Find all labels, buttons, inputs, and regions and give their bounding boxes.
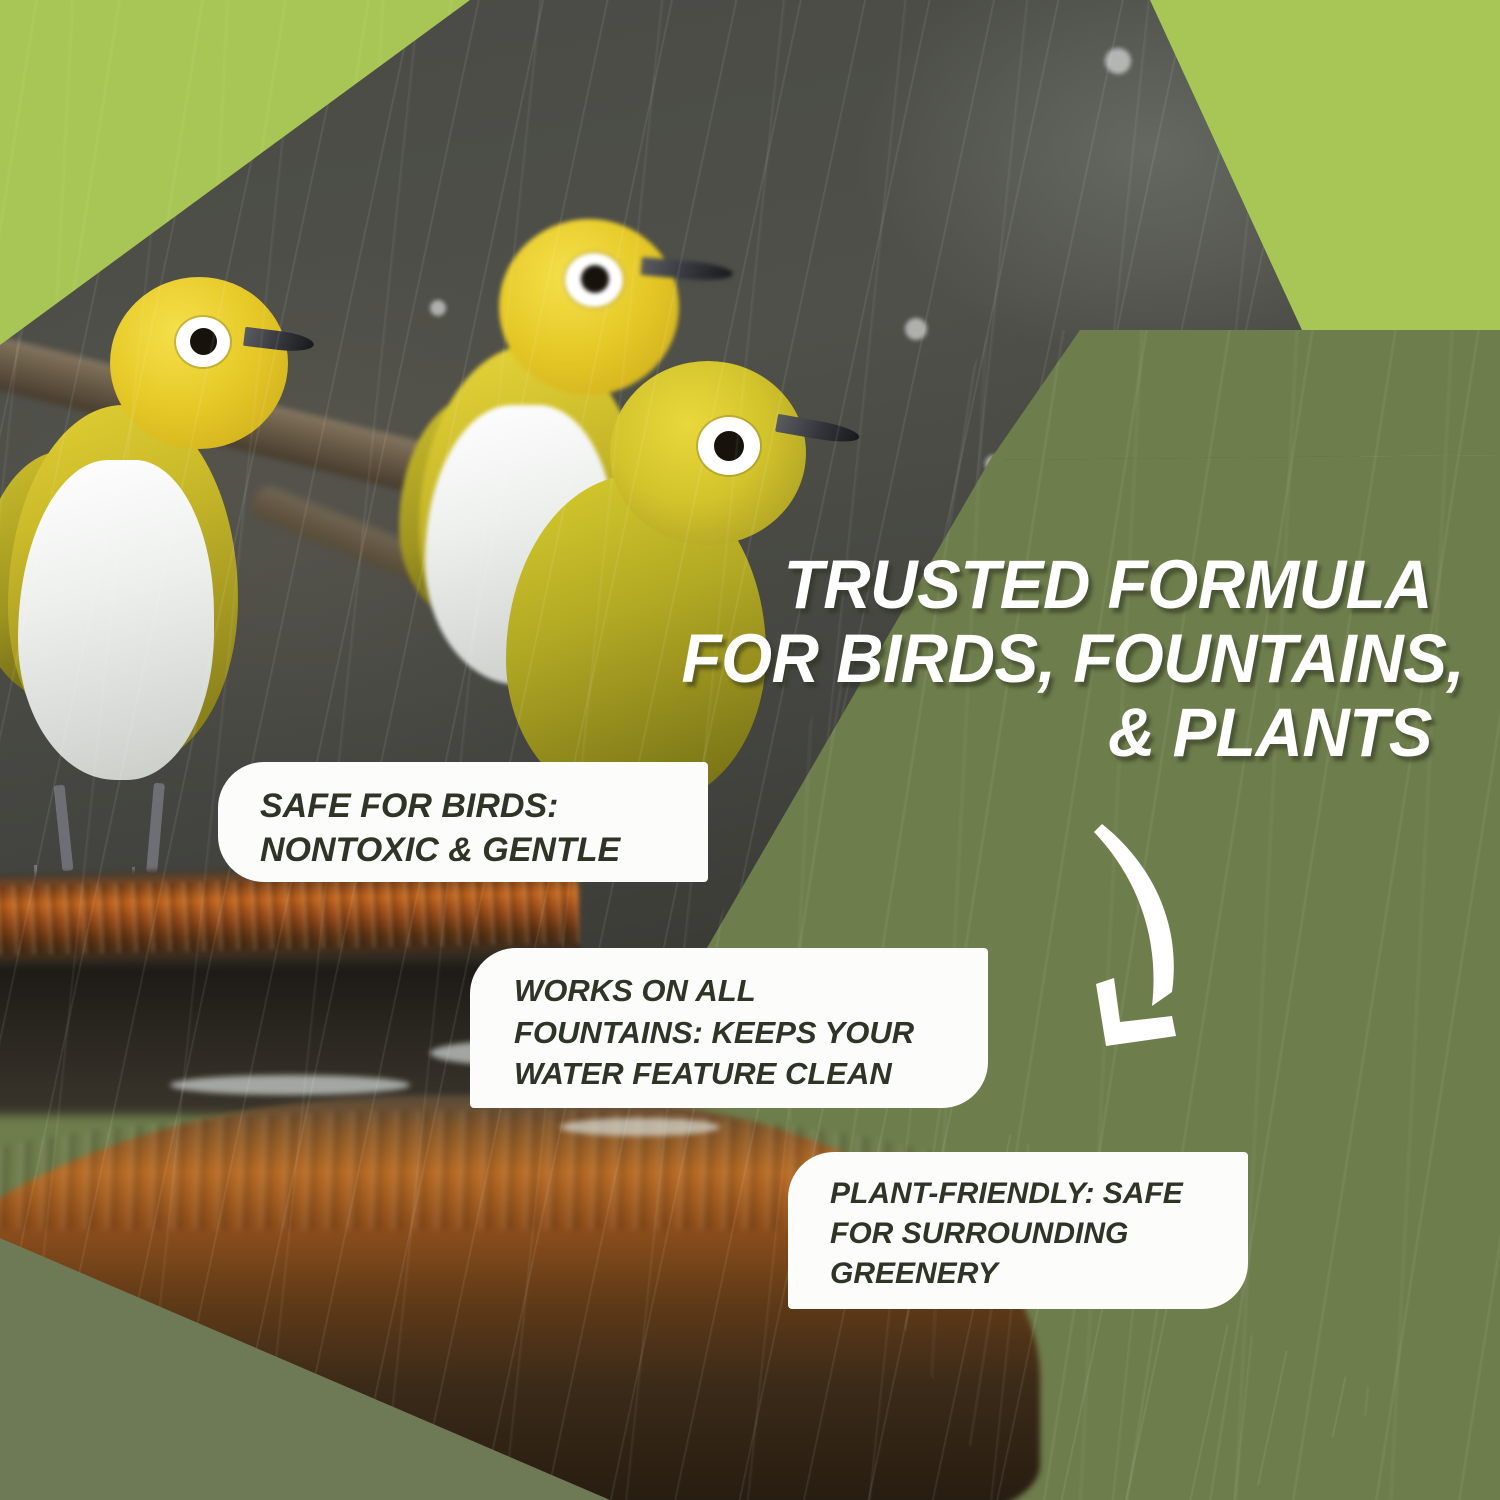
headline-line-2: FOR BIRDS, FOUNTAINS,: [682, 622, 1433, 696]
page-title: TRUSTED FORMULA FOR BIRDS, FOUNTAINS, & …: [682, 548, 1433, 769]
callout-works-on-all-fountains: WORKS ON ALL FOUNTAINS: KEEPS YOUR WATER…: [470, 948, 988, 1108]
callout-safe-for-birds: SAFE FOR BIRDS: NONTOXIC & GENTLE: [218, 762, 708, 882]
headline-line-1: TRUSTED FORMULA: [682, 548, 1433, 622]
curved-down-arrow-icon: [1080, 810, 1270, 1080]
water-splash-3: [560, 1118, 720, 1136]
rain-droplet-2: [905, 318, 927, 340]
callout-birds-line-2: NONTOXIC & GENTLE: [260, 828, 708, 872]
rain-droplet-4: [430, 300, 446, 316]
product-infographic: TRUSTED FORMULA FOR BIRDS, FOUNTAINS, & …: [0, 0, 1500, 1500]
rain-droplet-3: [985, 455, 1003, 473]
callout-plants-line-2: FOR SURROUNDING: [830, 1214, 1248, 1254]
callout-plants-line-1: PLANT-FRIENDLY: SAFE: [830, 1174, 1248, 1214]
callout-fountains-line-2: FOUNTAINS: KEEPS YOUR: [514, 1012, 988, 1054]
rain-droplet-5: [1230, 120, 1250, 140]
callout-plants-line-3: GREENERY: [830, 1254, 1248, 1294]
bird-center-pupil: [581, 265, 609, 293]
bird-left-leg-1: [54, 785, 74, 872]
bird-left-pupil: [190, 328, 217, 355]
callout-fountains-line-3: WATER FEATURE CLEAN: [514, 1053, 988, 1095]
bird-right-pupil: [714, 431, 744, 461]
headline-line-3: & PLANTS: [682, 696, 1433, 770]
birdbath-rim-texture: [0, 873, 581, 956]
arrow-shaft: [1094, 824, 1174, 1006]
bird-left-breast: [18, 460, 214, 780]
callout-fountains-line-1: WORKS ON ALL: [514, 970, 988, 1012]
callout-birds-line-1: SAFE FOR BIRDS:: [260, 784, 708, 828]
rain-droplet-1: [1105, 48, 1131, 74]
callout-plant-friendly: PLANT-FRIENDLY: SAFE FOR SURROUNDING GRE…: [788, 1152, 1248, 1309]
bird-left-leg-2: [146, 783, 165, 874]
water-splash-2: [170, 1075, 410, 1095]
